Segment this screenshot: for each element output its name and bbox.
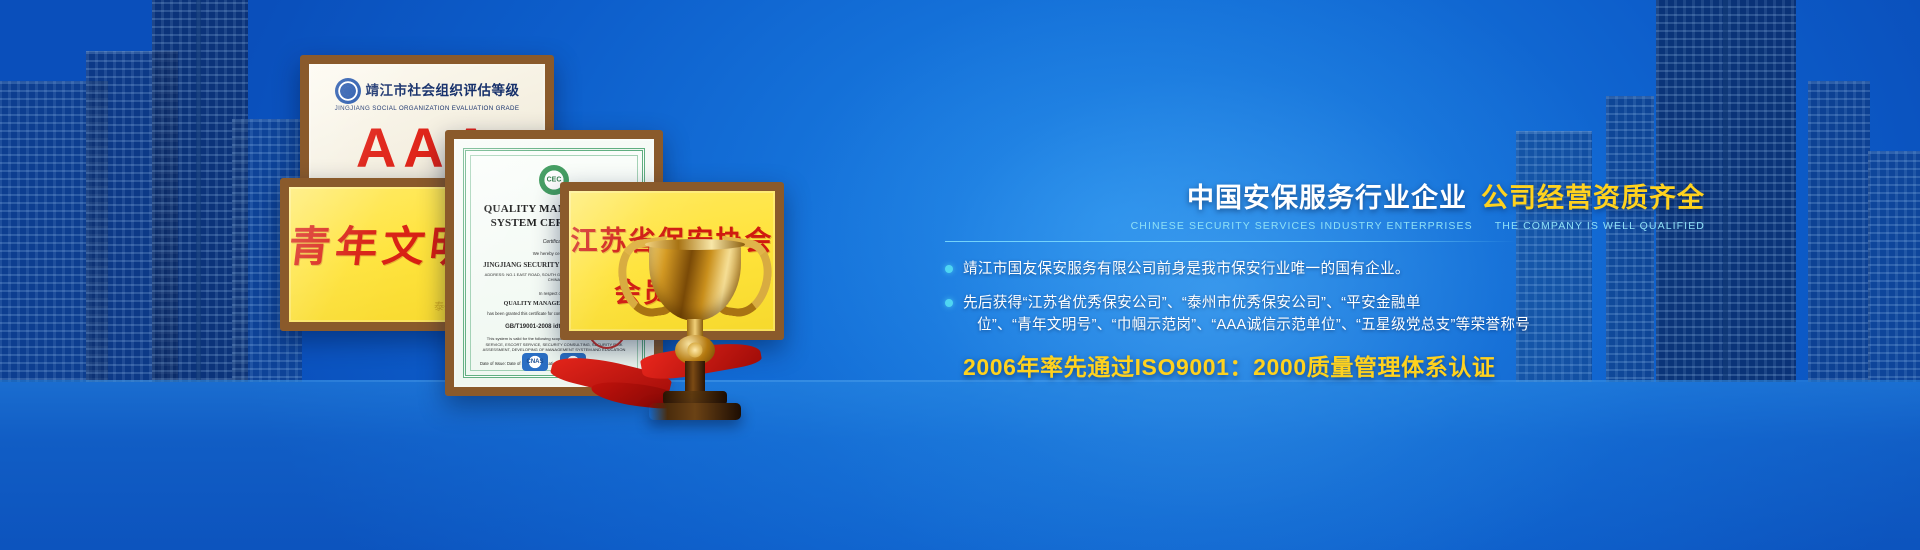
list-item: 先后获得“江苏省优秀保安公司”、“泰州市优秀保安公司”、“平安金融单 位”、“青… bbox=[945, 292, 1705, 337]
certificate-cluster: 靖江市社会组织评估等级 JINGJIANG SOCIAL ORGANIZATIO… bbox=[250, 0, 810, 470]
promo-banner: 靖江市社会组织评估等级 JINGJIANG SOCIAL ORGANIZATIO… bbox=[0, 0, 1920, 550]
subheadline-row: CHINESE SECURITY SERVICES INDUSTRY ENTER… bbox=[945, 220, 1705, 232]
aaa-org-title-en: JINGJIANG SOCIAL ORGANIZATION EVALUATION… bbox=[309, 105, 545, 112]
trophy-rim bbox=[645, 239, 745, 250]
divider-line bbox=[945, 241, 1517, 242]
bullet-text-1: 靖江市国友保安服务有限公司前身是我市保安行业唯一的国有企业。 bbox=[963, 258, 1410, 281]
highlight-text: 2006年率先通过ISO9001：2000质量管理体系认证 bbox=[963, 348, 1705, 382]
aaa-org-title: 靖江市社会组织评估等级 bbox=[366, 84, 520, 98]
bullet-text-2: 先后获得“江苏省优秀保安公司”、“泰州市优秀保安公司”、“平安金融单 位”、“青… bbox=[963, 292, 1530, 337]
bullet-dot-icon bbox=[945, 299, 953, 307]
bullet-list: 靖江市国友保安服务有限公司前身是我市保安行业唯一的国有企业。 先后获得“江苏省优… bbox=[945, 258, 1705, 337]
headline-row: 中国安保服务行业企业 公司经营资质齐全 bbox=[945, 176, 1705, 215]
trophy-base-lower bbox=[649, 403, 741, 420]
trophy bbox=[615, 235, 775, 420]
headline-yellow: 公司经营资质齐全 bbox=[1481, 176, 1705, 215]
aaa-header: 靖江市社会组织评估等级 bbox=[309, 78, 545, 104]
subheadline-right: THE COMPANY IS WELL QUALIFIED bbox=[1495, 220, 1705, 232]
bullet-dot-icon bbox=[945, 265, 953, 273]
bullet-text-2-line2: 位”、“青年文明号”、“巾帼示范岗”、“AAA诚信示范单位”、“五星级党总支”等… bbox=[963, 314, 1530, 337]
list-item: 靖江市国友保安服务有限公司前身是我市保安行业唯一的国有企业。 bbox=[945, 258, 1705, 281]
subheadline-left: CHINESE SECURITY SERVICES INDUSTRY ENTER… bbox=[1131, 220, 1473, 232]
headline-white: 中国安保服务行业企业 bbox=[1187, 176, 1467, 215]
bullet-text-2-line1: 先后获得“江苏省优秀保安公司”、“泰州市优秀保安公司”、“平安金融单 bbox=[963, 295, 1421, 311]
trophy-column bbox=[685, 361, 705, 395]
banner-copy: 中国安保服务行业企业 公司经营资质齐全 CHINESE SECURITY SER… bbox=[945, 176, 1705, 382]
official-seal-icon bbox=[335, 78, 361, 104]
